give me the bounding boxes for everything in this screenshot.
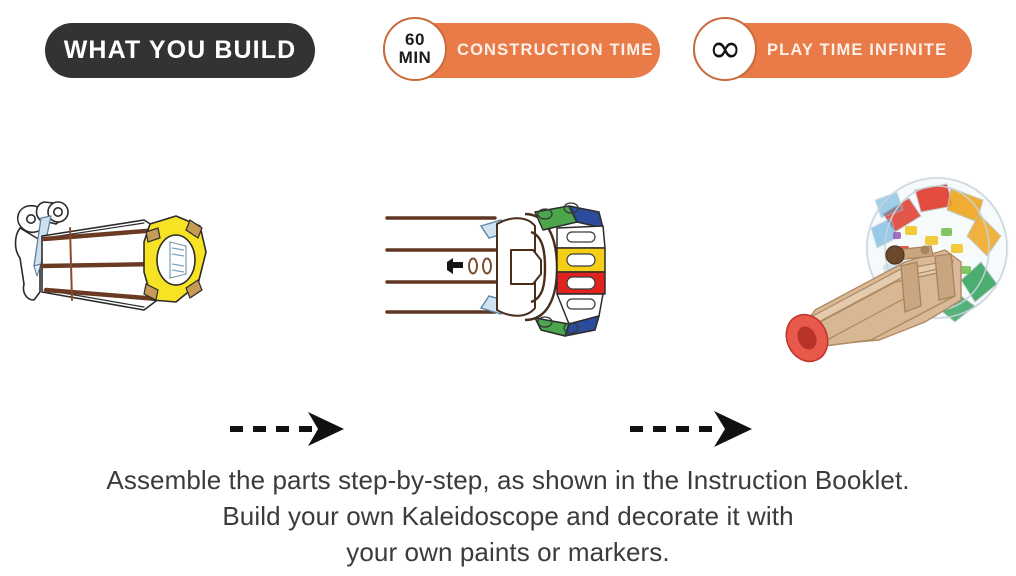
arrow-step2-to-step3 — [628, 408, 756, 455]
caption-line-2: Build your own Kaleidoscope and decorate… — [0, 498, 1016, 534]
step-1-wooden-frame — [10, 180, 220, 350]
arrow-step1-to-step2 — [228, 408, 348, 455]
construction-time-value: 60 — [405, 31, 425, 49]
step-3-finished-kaleidoscope — [775, 170, 1015, 370]
caption-line-3: your own paints or markers. — [0, 534, 1016, 570]
play-time-circle: ∞ — [693, 17, 757, 81]
construction-time-unit: MIN — [399, 49, 432, 67]
what-you-build-pill: WHAT YOU BUILD — [45, 23, 315, 78]
infinity-icon: ∞ — [708, 37, 741, 62]
construction-time-label: CONSTRUCTION TIME — [457, 42, 653, 59]
instruction-caption: Assemble the parts step-by-step, as show… — [0, 462, 1016, 570]
badge-row: WHAT YOU BUILD CONSTRUCTION TIME 60 MIN … — [0, 0, 1016, 105]
step-2-color-wheel-assembly — [385, 190, 620, 345]
play-time-label: PLAY TIME INFINITE — [767, 42, 947, 59]
what-you-build-label: WHAT YOU BUILD — [64, 38, 297, 63]
construction-time-circle: 60 MIN — [383, 17, 447, 81]
caption-line-1: Assemble the parts step-by-step, as show… — [0, 462, 1016, 498]
build-steps-strip — [0, 150, 1016, 380]
